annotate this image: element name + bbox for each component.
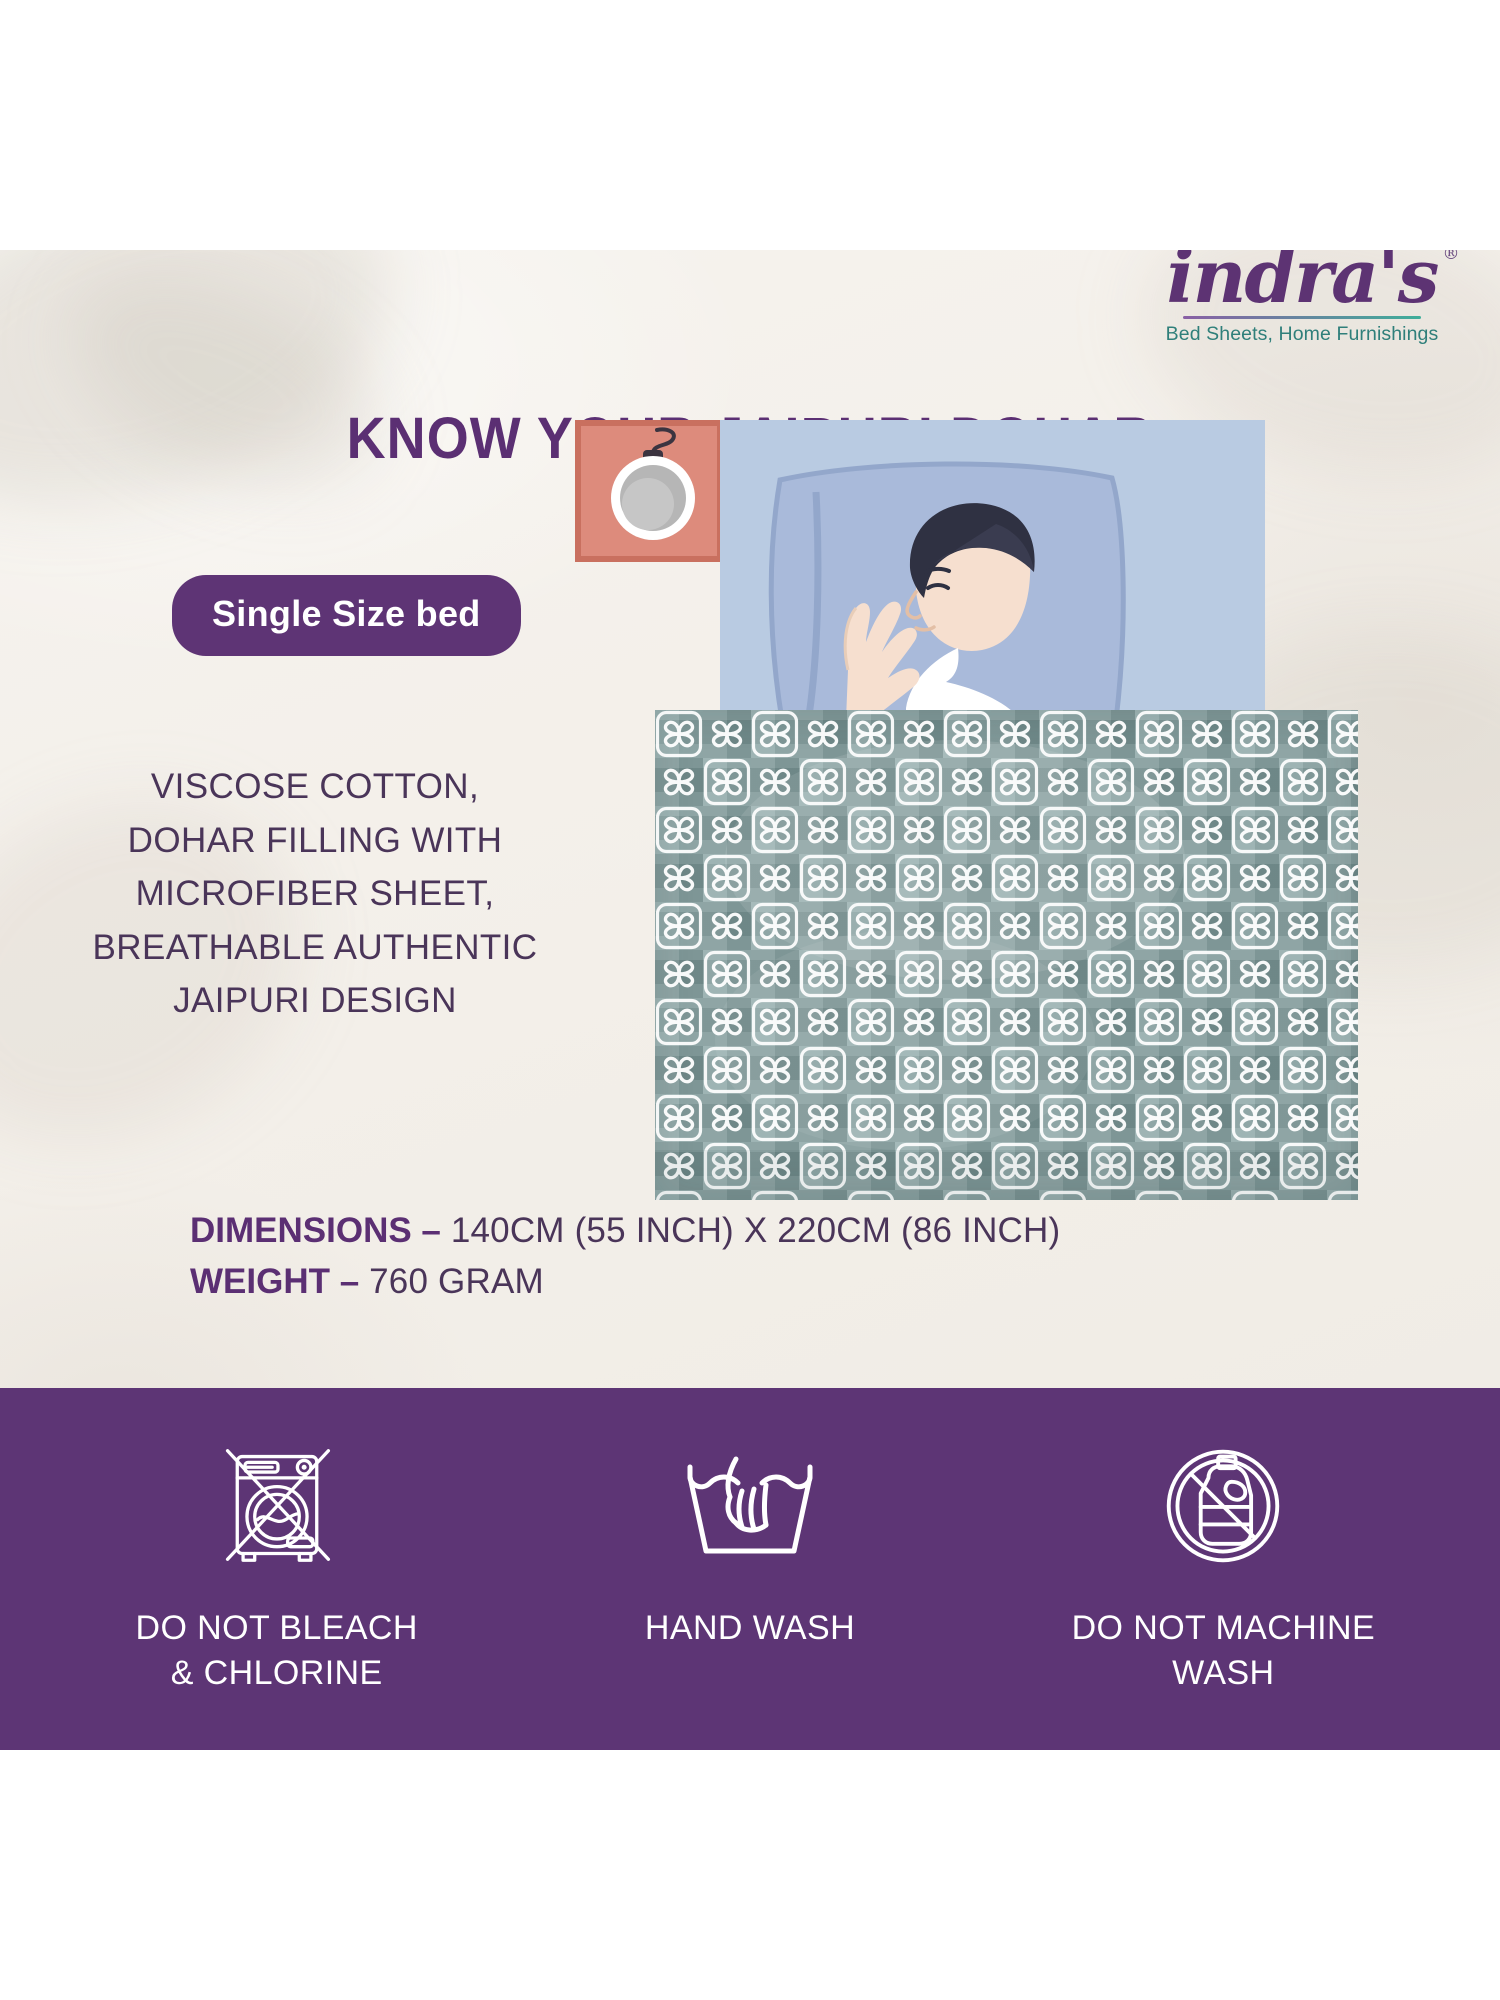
- spec-label: DIMENSIONS –: [190, 1211, 441, 1250]
- description-line: JAIPURI DESIGN: [80, 974, 550, 1028]
- care-label: HAND WASH: [645, 1606, 855, 1651]
- sleeping-person-pillow-icon: [720, 420, 1265, 750]
- spec-value: 760 GRAM: [369, 1262, 544, 1301]
- spec-label: WEIGHT –: [190, 1262, 359, 1301]
- care-label-line: WASH: [1072, 1651, 1375, 1696]
- description-line: DOHAR FILLING WITH: [80, 814, 550, 868]
- registered-mark: ®: [1442, 250, 1457, 263]
- description-line: MICROFIBER SHEET,: [80, 867, 550, 921]
- brand-tagline: Bed Sheets, Home Furnishings: [1152, 323, 1452, 346]
- brand-name-text: indra's: [1167, 250, 1438, 320]
- blanket-pattern-svg: [655, 710, 1358, 1200]
- jaipuri-dohar-blanket-swatch: [655, 710, 1358, 1200]
- description-line: VISCOSE COTTON,: [80, 760, 550, 814]
- hand-wash-basin-icon: [680, 1440, 820, 1572]
- care-item-hand-wash: HAND WASH: [513, 1440, 986, 1750]
- brand-logo: indra's ® Bed Sheets, Home Furnishings: [1152, 250, 1452, 346]
- pendant-lamp-icon: [581, 426, 717, 556]
- leaf-shadow-decoration: [38, 250, 413, 529]
- care-label: DO NOT MACHINE WASH: [1072, 1606, 1375, 1696]
- product-description: VISCOSE COTTON, DOHAR FILLING WITH MICRO…: [80, 760, 550, 1028]
- care-label: DO NOT BLEACH & CHLORINE: [136, 1606, 418, 1696]
- pendant-lamp-frame-icon: [575, 420, 723, 562]
- care-instructions-band: DO NOT BLEACH & CHLORINE: [0, 1388, 1500, 1750]
- care-item-do-not-machine-wash: DO NOT MACHINE WASH: [987, 1440, 1460, 1750]
- care-label-line: DO NOT MACHINE: [1072, 1606, 1375, 1651]
- brand-wordmark: indra's ®: [1167, 250, 1438, 314]
- care-label-line: & CHLORINE: [136, 1651, 418, 1696]
- care-label-line: DO NOT BLEACH: [136, 1606, 418, 1651]
- care-item-do-not-bleach: DO NOT BLEACH & CHLORINE: [40, 1440, 513, 1750]
- size-badge: Single Size bed: [172, 575, 521, 656]
- bed-scene-svg: [720, 420, 1265, 750]
- description-line: BREATHABLE AUTHENTIC: [80, 921, 550, 975]
- size-badge-label: Single Size bed: [212, 593, 481, 634]
- no-bleach-bottle-prohibited-icon: [1160, 1440, 1286, 1572]
- no-machine-wash-crossed-icon: [214, 1440, 340, 1572]
- care-label-line: HAND WASH: [645, 1606, 855, 1651]
- product-illustration: [575, 420, 1365, 1470]
- infographic-card: indra's ® Bed Sheets, Home Furnishings K…: [0, 250, 1500, 1750]
